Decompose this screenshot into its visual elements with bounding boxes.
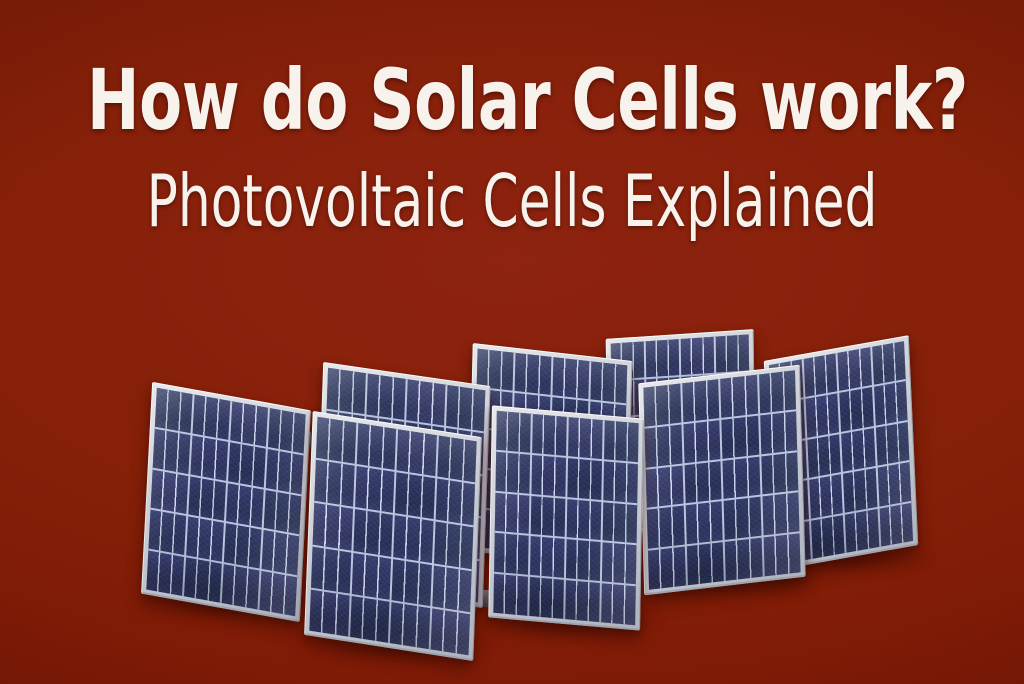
photovoltaic-cell (875, 422, 909, 466)
photovoltaic-cell (604, 420, 639, 462)
photovoltaic-cell (350, 596, 390, 643)
photovoltaic-cell (720, 375, 757, 418)
solar-panel-5 (488, 405, 643, 630)
photovoltaic-cell (809, 474, 843, 518)
photovoltaic-cell (646, 465, 683, 508)
photovoltaic-cell (151, 469, 189, 514)
photovoltaic-cell (684, 461, 721, 504)
photovoltaic-cell (530, 536, 565, 578)
panel-laminate (146, 388, 305, 616)
photovoltaic-cell (552, 357, 589, 399)
photovoltaic-cell (226, 483, 264, 528)
page-title: How do Solar Cells work? (87, 58, 937, 142)
photovoltaic-cell (872, 341, 906, 385)
photovoltaic-cell (353, 509, 393, 556)
photovoltaic-cell (224, 524, 262, 569)
photovoltaic-cell (645, 424, 682, 467)
photovoltaic-cell (845, 509, 879, 553)
photovoltaic-cell (761, 452, 798, 495)
photovoltaic-cell (531, 496, 566, 538)
photovoltaic-cell (193, 395, 231, 440)
photovoltaic-cell-grid (493, 411, 638, 625)
photovoltaic-cell (433, 522, 473, 569)
panel-laminate (643, 370, 800, 589)
photovoltaic-cell (268, 408, 306, 453)
photovoltaic-cell (531, 455, 566, 497)
photovoltaic-cell (760, 411, 797, 454)
photovoltaic-cell-grid (643, 370, 800, 589)
photovoltaic-cell (724, 497, 761, 540)
photovoltaic-cell (266, 449, 304, 494)
photovoltaic-cell (495, 452, 530, 494)
photovoltaic-cell (395, 472, 435, 519)
photovoltaic-cell (811, 515, 845, 559)
photovoltaic-cell (259, 571, 297, 616)
photovoltaic-cell (262, 530, 300, 575)
photovoltaic-cell (682, 379, 719, 422)
photovoltaic-cell (646, 339, 679, 377)
panel-laminate (309, 417, 476, 655)
photovoltaic-cell (264, 490, 302, 535)
photovoltaic-cell (805, 394, 839, 438)
photovoltaic-cell (493, 574, 528, 616)
photovoltaic-cell (228, 442, 266, 487)
photovoltaic-cell-grid (146, 388, 305, 616)
photovoltaic-cell (566, 539, 601, 581)
solar-panel-1 (141, 382, 311, 622)
photovoltaic-cell (390, 602, 430, 649)
photovoltaic-cell (843, 468, 877, 512)
photovoltaic-cell (430, 608, 470, 655)
photovoltaic-cell (685, 501, 722, 544)
photovoltaic-cell (590, 361, 627, 403)
photovoltaic-cell (355, 466, 395, 513)
photovoltaic-cell (230, 401, 268, 446)
photovoltaic-cell (406, 379, 445, 425)
photovoltaic-cell (153, 428, 191, 473)
panel-laminate (493, 411, 638, 625)
photovoltaic-cell (188, 476, 226, 521)
title-card: How do Solar Cells work? Photovoltaic Ce… (0, 0, 1024, 684)
photovoltaic-cell (683, 420, 720, 463)
photovoltaic-cell (432, 565, 472, 612)
photovoltaic-cell (532, 414, 567, 456)
photovoltaic-cell (351, 552, 391, 599)
photovoltaic-cell (763, 533, 800, 576)
photovoltaic-cell (565, 580, 600, 622)
photovoltaic-cell (184, 557, 222, 602)
photovoltaic-cell (311, 546, 351, 593)
photovoltaic-cell (647, 506, 684, 549)
photovoltaic-cell (762, 493, 799, 536)
photovoltaic-cell (515, 353, 552, 395)
photovoltaic-cell (435, 479, 475, 526)
photovoltaic-cell (807, 434, 841, 478)
photovoltaic-cell (567, 499, 602, 541)
photovoltaic-cell (803, 353, 837, 397)
photovoltaic-cell (681, 337, 714, 375)
solar-panel-3 (304, 411, 482, 661)
photovoltaic-cell (316, 417, 356, 464)
photovoltaic-cell-grid (309, 417, 476, 655)
photovoltaic-cell (725, 538, 762, 581)
photovoltaic-cell (643, 384, 680, 427)
photovoltaic-cell (567, 458, 602, 500)
photovoltaic-cell (839, 388, 873, 432)
solar-panel-7 (638, 365, 805, 596)
photovoltaic-cell (877, 462, 911, 506)
photovoltaic-cell (496, 411, 531, 453)
photovoltaic-cell (148, 510, 186, 555)
photovoltaic-cell (648, 547, 685, 590)
photovoltaic-cell (716, 334, 749, 372)
photovoltaic-cell (222, 564, 260, 609)
photovoltaic-cell (602, 543, 637, 585)
photovoltaic-cell (841, 428, 875, 472)
photovoltaic-cell (146, 551, 184, 596)
photovoltaic-cell (366, 373, 405, 419)
photovoltaic-cell (309, 589, 349, 636)
photovoltaic-cell (155, 388, 193, 433)
page-subtitle: Photovoltaic Cells Explained (102, 165, 921, 237)
photovoltaic-cell (879, 503, 913, 547)
photovoltaic-cell (721, 415, 758, 458)
photovoltaic-cell (837, 347, 871, 391)
photovoltaic-cell (494, 533, 529, 575)
photovoltaic-cell (392, 559, 432, 606)
photovoltaic-cell (603, 461, 638, 503)
photovoltaic-cell (186, 517, 224, 562)
photovoltaic-cell (437, 435, 477, 482)
photovoltaic-cell (603, 502, 638, 544)
photovoltaic-cell (568, 417, 603, 459)
photovoltaic-cell (190, 435, 228, 480)
photovoltaic-cell (313, 503, 353, 550)
photovoltaic-cell (759, 370, 796, 413)
photovoltaic-cell (356, 423, 396, 470)
photovoltaic-cell (495, 492, 530, 534)
photovoltaic-cell (601, 583, 636, 625)
photovoltaic-cell (327, 368, 366, 414)
photovoltaic-cell (529, 577, 564, 619)
photovoltaic-cell (722, 456, 759, 499)
photovoltaic-cell (393, 516, 433, 563)
photovoltaic-cell (686, 542, 723, 585)
photovoltaic-cell (397, 429, 437, 476)
photovoltaic-cell (314, 460, 354, 507)
photovoltaic-cell (874, 381, 908, 425)
photovoltaic-cell (446, 385, 485, 431)
